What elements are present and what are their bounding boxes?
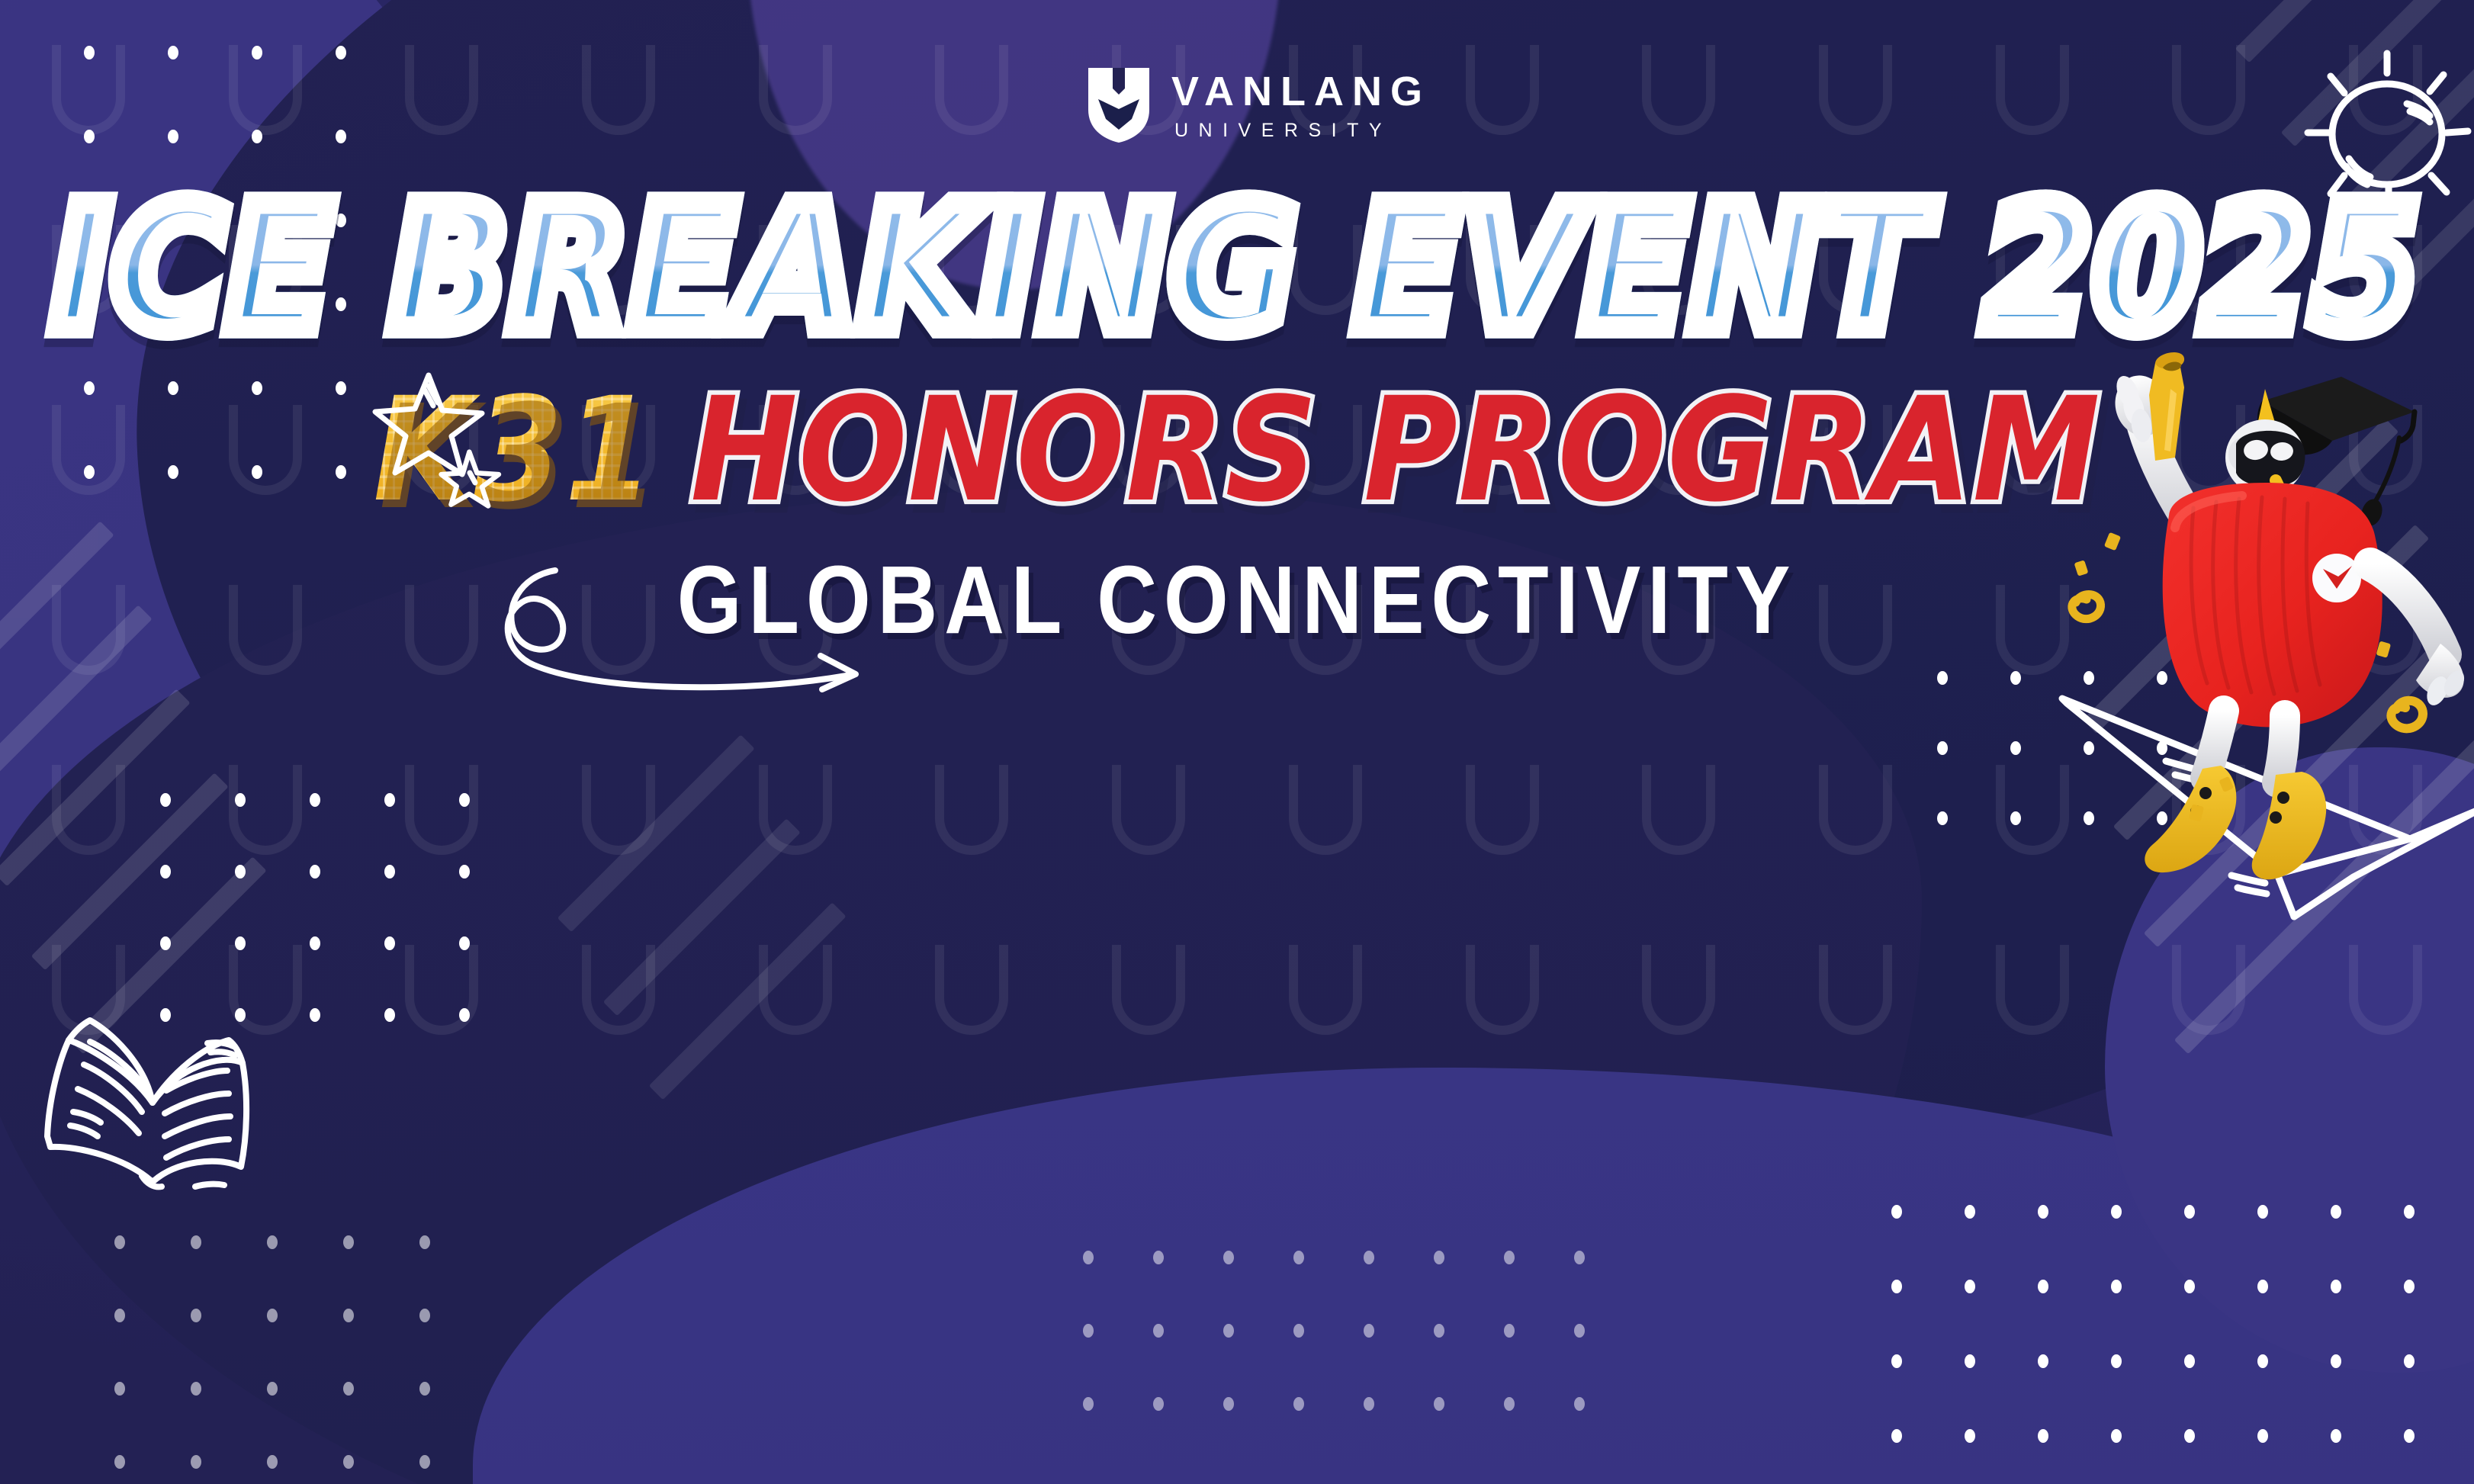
event-banner: VANLANG UNIVERSITY ICE BREAKING EVENT 20… bbox=[0, 0, 2474, 1484]
dot-grid-bottom-right bbox=[1891, 1205, 2474, 1484]
dot-grid-bottom-left bbox=[114, 1235, 496, 1484]
vanlang-university-logo: VANLANG UNIVERSITY bbox=[1086, 66, 1431, 145]
headline-tertiary: GLOBAL CONNECTIVITY bbox=[149, 545, 2326, 656]
dot-grid-bottom-center bbox=[1083, 1251, 1644, 1470]
vanlang-shield-logo bbox=[1086, 66, 1152, 145]
logo-name: VANLANG bbox=[1171, 71, 1431, 112]
swirl-arrow-doodle-icon bbox=[488, 549, 961, 702]
mascot-body bbox=[2163, 483, 2382, 727]
gold-confetti-center bbox=[2183, 767, 2274, 843]
sun-doodle-icon bbox=[2296, 46, 2474, 221]
gold-confetti-left bbox=[2059, 526, 2151, 648]
diagonal-stripes-mid bbox=[564, 900, 885, 1220]
open-book-doodle-icon bbox=[31, 984, 275, 1213]
headline-honors-program: HONORS PROGRAM bbox=[690, 366, 2100, 534]
stars-doodle-icon bbox=[358, 366, 519, 519]
gold-confetti-right bbox=[2372, 625, 2474, 747]
logo-subtitle: UNIVERSITY bbox=[1171, 121, 1431, 140]
gold-trophy-icon bbox=[2149, 352, 2184, 461]
